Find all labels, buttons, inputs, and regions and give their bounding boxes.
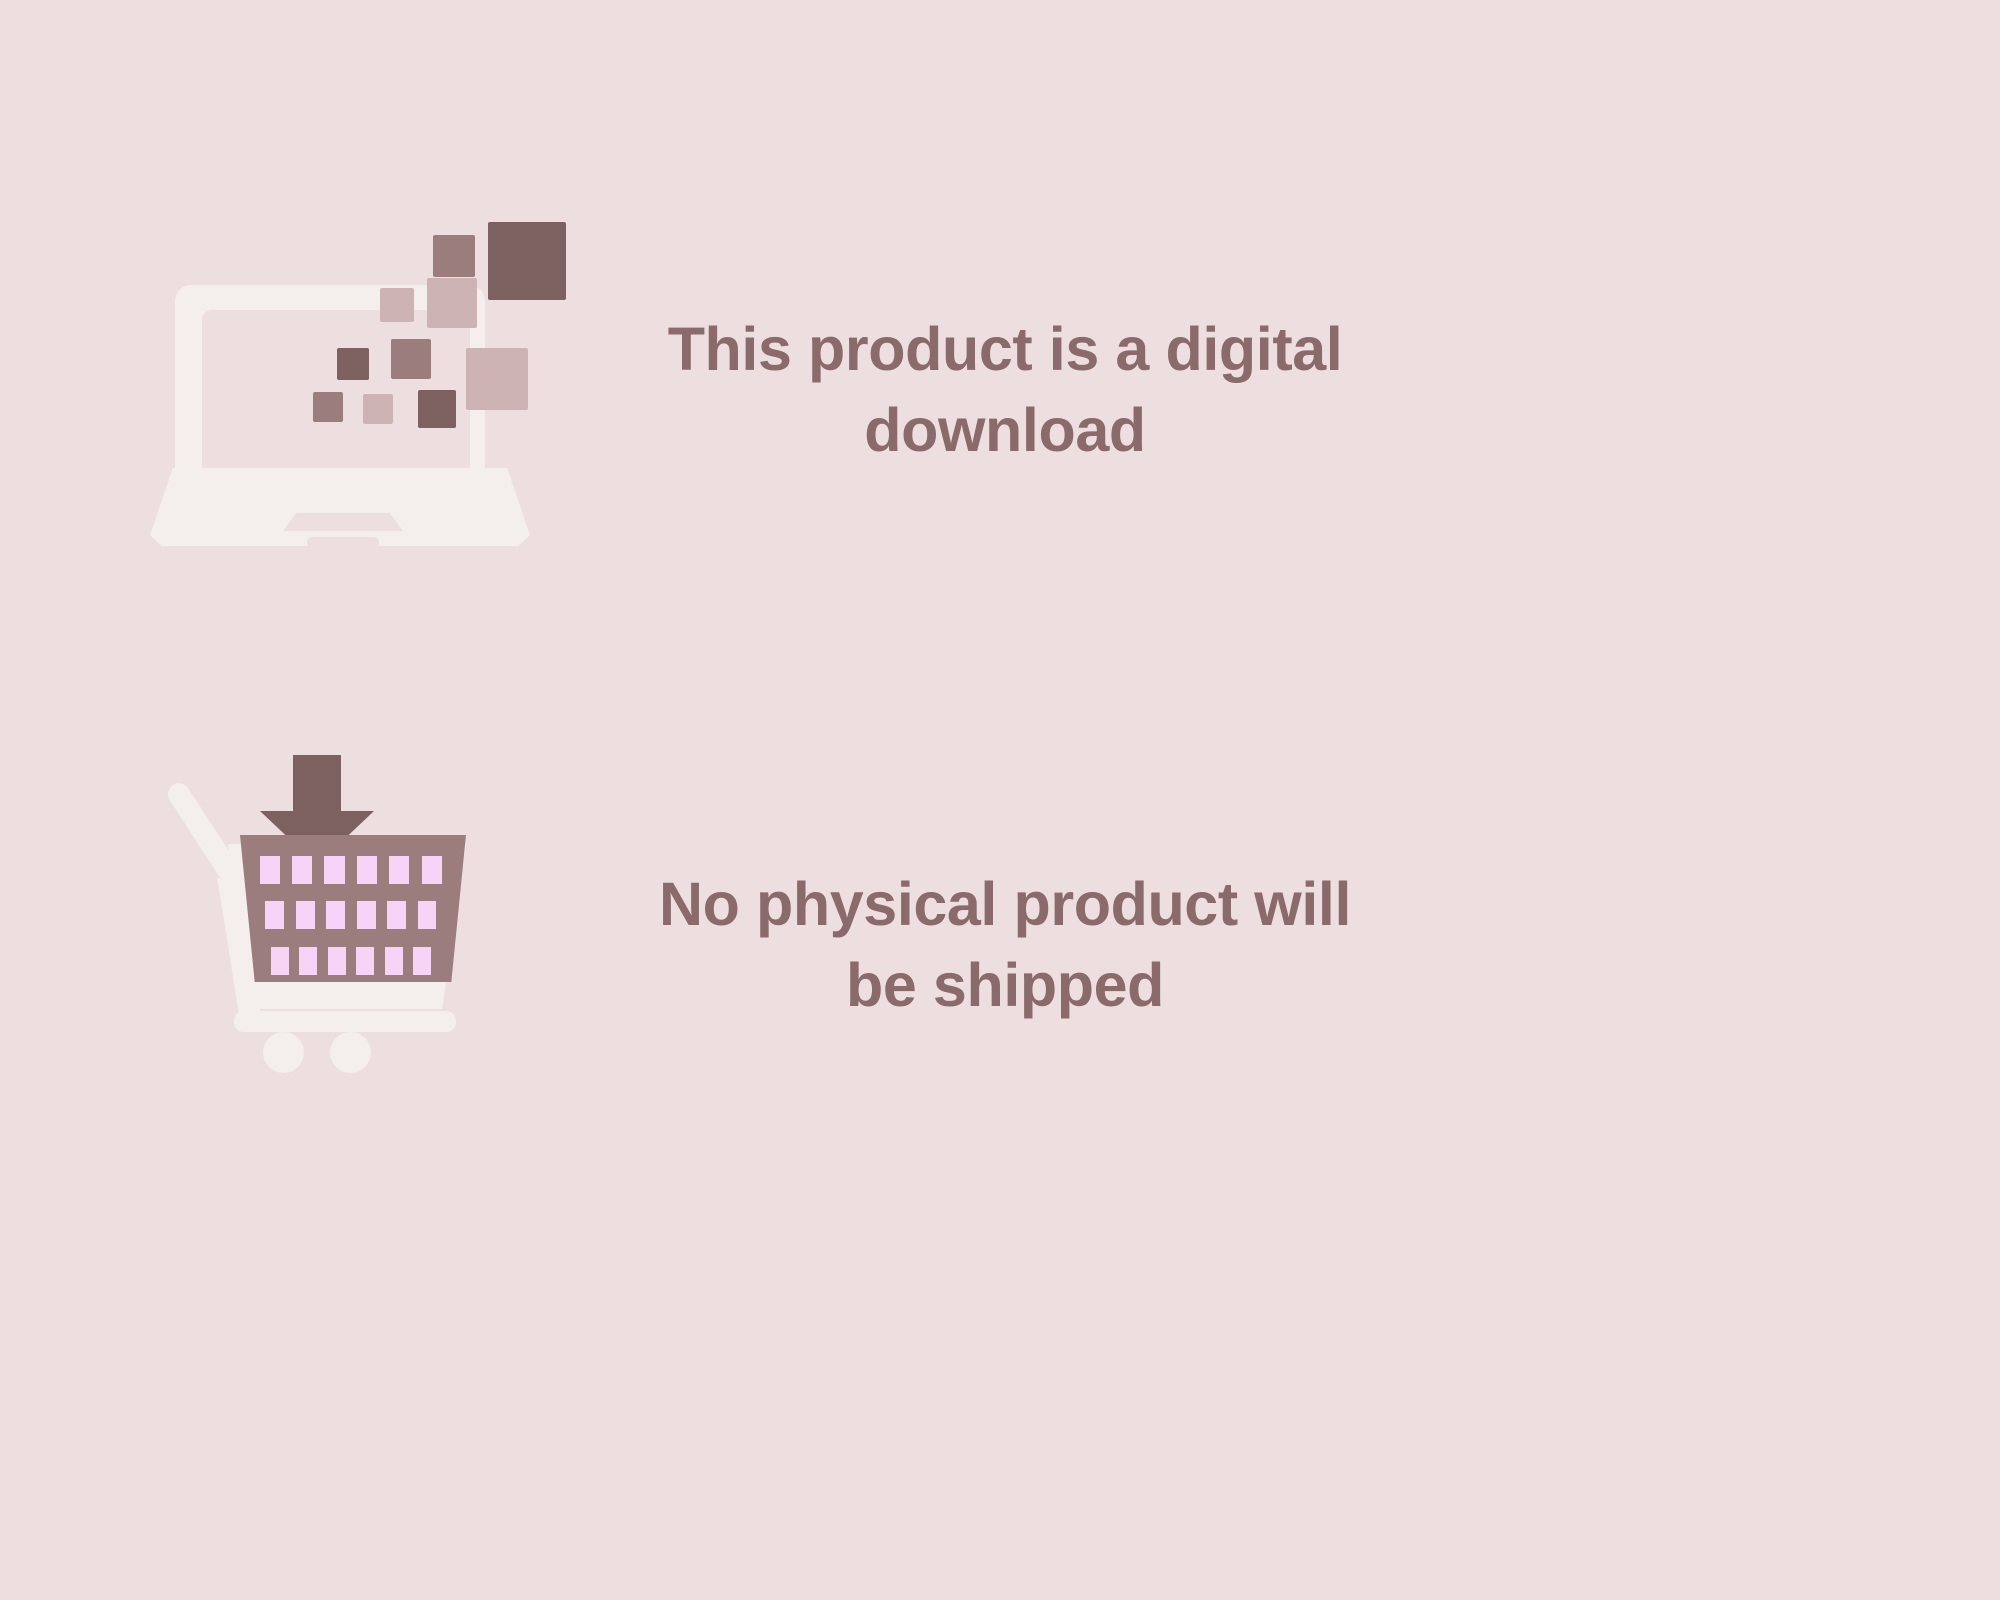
cart-basket-hole xyxy=(357,856,377,884)
feature-row-digital-download: This product is a digital download xyxy=(150,200,1410,580)
feature-row-no-shipping: No physical product will be shipped xyxy=(150,745,1410,1145)
cart-basket-hole xyxy=(389,856,409,884)
cart-basket-hole xyxy=(260,856,280,884)
pixel-square xyxy=(380,288,414,322)
no-shipping-text-block: No physical product will be shipped xyxy=(605,864,1405,1025)
digital-download-headline: This product is a digital download xyxy=(605,309,1405,470)
cart-basket-hole xyxy=(387,901,406,929)
cart-wheel-left xyxy=(263,1032,304,1073)
pixel-square xyxy=(466,348,528,410)
cart-basket-hole xyxy=(299,947,317,975)
pixel-square xyxy=(313,392,343,422)
cart-basket-hole xyxy=(413,947,431,975)
shopping-cart-with-down-arrow-icon xyxy=(150,745,545,1145)
cart-basket-hole xyxy=(326,901,345,929)
cart-basket-hole xyxy=(356,947,374,975)
pixel-square xyxy=(427,278,477,328)
laptop-with-pixels-icon xyxy=(150,200,545,580)
down-arrow-icon xyxy=(293,755,341,817)
laptop-icon xyxy=(150,200,545,580)
pixel-square xyxy=(391,339,431,379)
cart-basket-hole xyxy=(328,947,346,975)
laptop-trackpad xyxy=(283,513,403,531)
pixel-square xyxy=(488,222,566,300)
poster-canvas: This product is a digital download No ph… xyxy=(0,0,1545,1250)
cart-basket-hole xyxy=(292,856,312,884)
laptop-base xyxy=(150,468,530,546)
pixel-square xyxy=(337,348,369,380)
digital-download-text-block: This product is a digital download xyxy=(605,309,1405,470)
cart-bottom-bar xyxy=(234,1011,456,1032)
cart-basket-hole xyxy=(422,856,442,884)
cart-basket xyxy=(240,835,466,982)
cart-wheel-right xyxy=(330,1032,371,1073)
cart-basket-hole xyxy=(265,901,284,929)
cart-basket-hole xyxy=(418,901,437,929)
laptop-front-bar xyxy=(307,537,379,548)
cart-basket-hole xyxy=(324,856,344,884)
cart-basket-hole xyxy=(271,947,289,975)
shopping-cart-icon xyxy=(150,745,545,1145)
pixel-square xyxy=(363,394,393,424)
no-shipping-headline: No physical product will be shipped xyxy=(605,864,1405,1025)
pixel-square xyxy=(433,235,475,277)
cart-basket-hole xyxy=(357,901,376,929)
cart-basket-hole xyxy=(296,901,315,929)
pixel-square xyxy=(418,390,456,428)
cart-basket-hole xyxy=(385,947,403,975)
